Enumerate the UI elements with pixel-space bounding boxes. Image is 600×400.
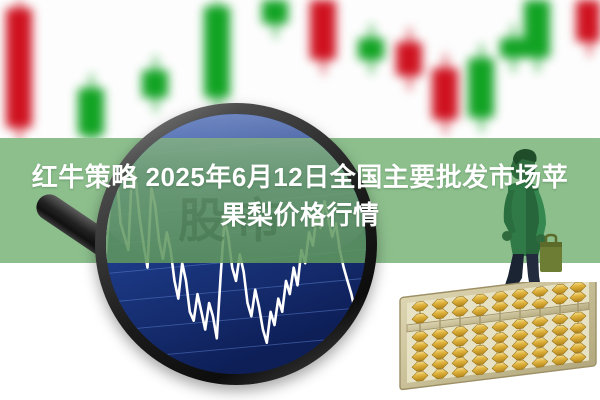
candlestick-body: [310, 0, 336, 60]
candlestick-body: [6, 8, 32, 128]
candlestick-body: [576, 0, 600, 42]
magnifier-rim: 股市: [95, 103, 377, 385]
candlestick-body: [468, 58, 494, 118]
lens-stock-chart: [106, 114, 366, 374]
candlestick-body: [500, 38, 526, 58]
page-title: 红牛策略 2025年6月12日全国主要批发市场苹 果梨价格行情: [28, 158, 572, 234]
magnifying-glass: 股市: [95, 103, 377, 385]
magnifier-lens: 股市: [106, 114, 366, 374]
candlestick-body: [358, 38, 384, 60]
cover-image: 股市: [0, 0, 600, 400]
candlestick-body: [396, 42, 422, 76]
candlestick-body: [142, 70, 168, 98]
candlestick-body: [262, 0, 288, 24]
candlestick-body: [204, 6, 230, 98]
candlestick-body: [524, 0, 550, 58]
title-line-1: 红牛策略 2025年6月12日全国主要批发市场苹: [28, 158, 572, 196]
candlestick-body: [432, 68, 458, 120]
chinese-abacus: [398, 282, 598, 394]
title-line-2: 果梨价格行情: [28, 196, 572, 234]
